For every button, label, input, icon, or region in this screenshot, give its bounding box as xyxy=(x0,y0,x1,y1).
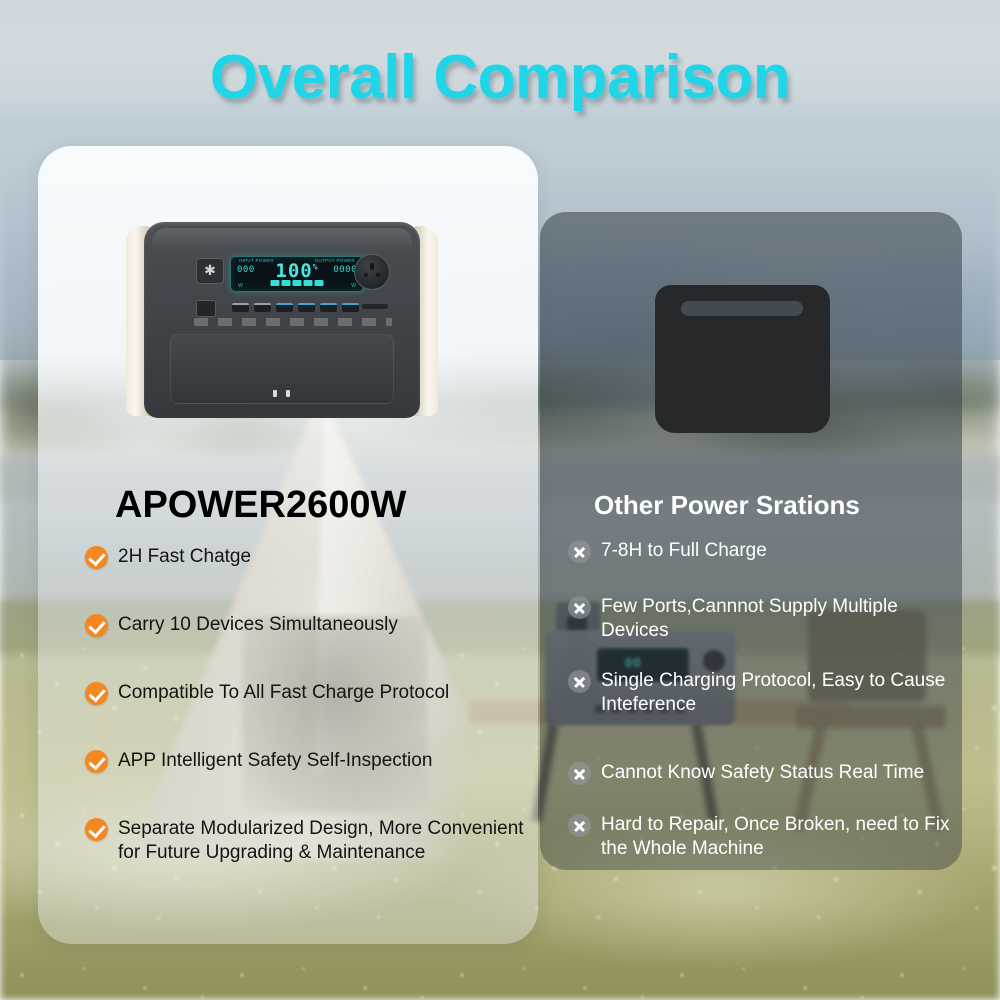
usb-port xyxy=(298,303,315,312)
feature-text: Few Ports,Cannnot Supply Multiple Device… xyxy=(601,595,960,643)
dc-input-port xyxy=(196,300,216,317)
feature-item: Cannot Know Safety Status Real Time xyxy=(568,761,924,785)
feature-text: Separate Modularized Design, More Conven… xyxy=(118,817,537,865)
feature-text: Compatible To All Fast Charge Protocol xyxy=(118,681,449,705)
feature-item: Carry 10 Devices Simultaneously xyxy=(85,613,398,637)
check-icon xyxy=(85,750,108,773)
check-icon xyxy=(85,614,108,637)
product-port-row xyxy=(196,300,390,314)
feature-text: Hard to Repair, Once Broken, need to Fix… xyxy=(601,813,960,861)
product-lower-plate xyxy=(170,334,394,404)
product-body: INPUT POWER OUTPUT POWER 000 0000 100% W… xyxy=(144,222,420,418)
usb-port xyxy=(342,303,359,312)
product-indicator-pin xyxy=(286,390,290,397)
feature-text: Single Charging Protocol, Easy to Cause … xyxy=(601,669,960,717)
lcd-input-unit: W xyxy=(238,283,243,289)
usb-port xyxy=(232,303,249,312)
feature-item: APP Intelligent Safety Self-Inspection xyxy=(85,749,432,773)
generic-power-station-silhouette xyxy=(655,285,830,433)
silhouette-handle-cutout xyxy=(681,301,803,316)
right-column-heading: Other Power Srations xyxy=(594,490,860,521)
fan-icon xyxy=(196,258,224,284)
lcd-output-unit: W xyxy=(351,283,356,289)
feature-text: 2H Fast Chatge xyxy=(118,545,251,569)
usb-port xyxy=(254,303,271,312)
cross-icon xyxy=(568,670,591,693)
feature-text: APP Intelligent Safety Self-Inspection xyxy=(118,749,432,773)
feature-text: Cannot Know Safety Status Real Time xyxy=(601,761,924,785)
page-title: Overall Comparison xyxy=(0,42,1000,113)
lcd-output-label: OUTPUT POWER xyxy=(315,258,355,263)
feature-item: Separate Modularized Design, More Conven… xyxy=(85,817,537,865)
product-indicator-pin xyxy=(273,390,277,397)
cross-icon xyxy=(568,596,591,619)
check-icon xyxy=(85,818,108,841)
product-lcd-display: INPUT POWER OUTPUT POWER 000 0000 100% W… xyxy=(230,256,364,292)
dc-output-port xyxy=(362,304,388,309)
ac-outlet-icon xyxy=(354,254,390,290)
port-label-strip xyxy=(194,318,392,326)
feature-item: 2H Fast Chatge xyxy=(85,545,251,569)
usb-port xyxy=(276,303,293,312)
lcd-battery-bars xyxy=(271,280,324,286)
lcd-input-label: INPUT POWER xyxy=(239,258,274,263)
check-icon xyxy=(85,546,108,569)
feature-item: Single Charging Protocol, Easy to Cause … xyxy=(568,669,960,717)
check-icon xyxy=(85,682,108,705)
left-column-heading: APOWER2600W xyxy=(115,484,406,527)
feature-item: Hard to Repair, Once Broken, need to Fix… xyxy=(568,813,960,861)
cross-icon xyxy=(568,540,591,563)
cross-icon xyxy=(568,762,591,785)
product-control-panel: INPUT POWER OUTPUT POWER 000 0000 100% W… xyxy=(196,256,390,296)
apower-power-station-image: INPUT POWER OUTPUT POWER 000 0000 100% W… xyxy=(126,222,438,418)
lcd-battery-percent: 100% xyxy=(275,260,318,282)
comparison-infographic: 00 Overall Comparison INPUT POWER OUTPUT… xyxy=(0,0,1000,1000)
lcd-input-value: 000 xyxy=(237,265,255,275)
feature-item: Compatible To All Fast Charge Protocol xyxy=(85,681,449,705)
feature-text: Carry 10 Devices Simultaneously xyxy=(118,613,398,637)
feature-text: 7-8H to Full Charge xyxy=(601,539,767,563)
feature-item: Few Ports,Cannnot Supply Multiple Device… xyxy=(568,595,960,643)
cross-icon xyxy=(568,814,591,837)
feature-item: 7-8H to Full Charge xyxy=(568,539,767,563)
usb-port xyxy=(320,303,337,312)
